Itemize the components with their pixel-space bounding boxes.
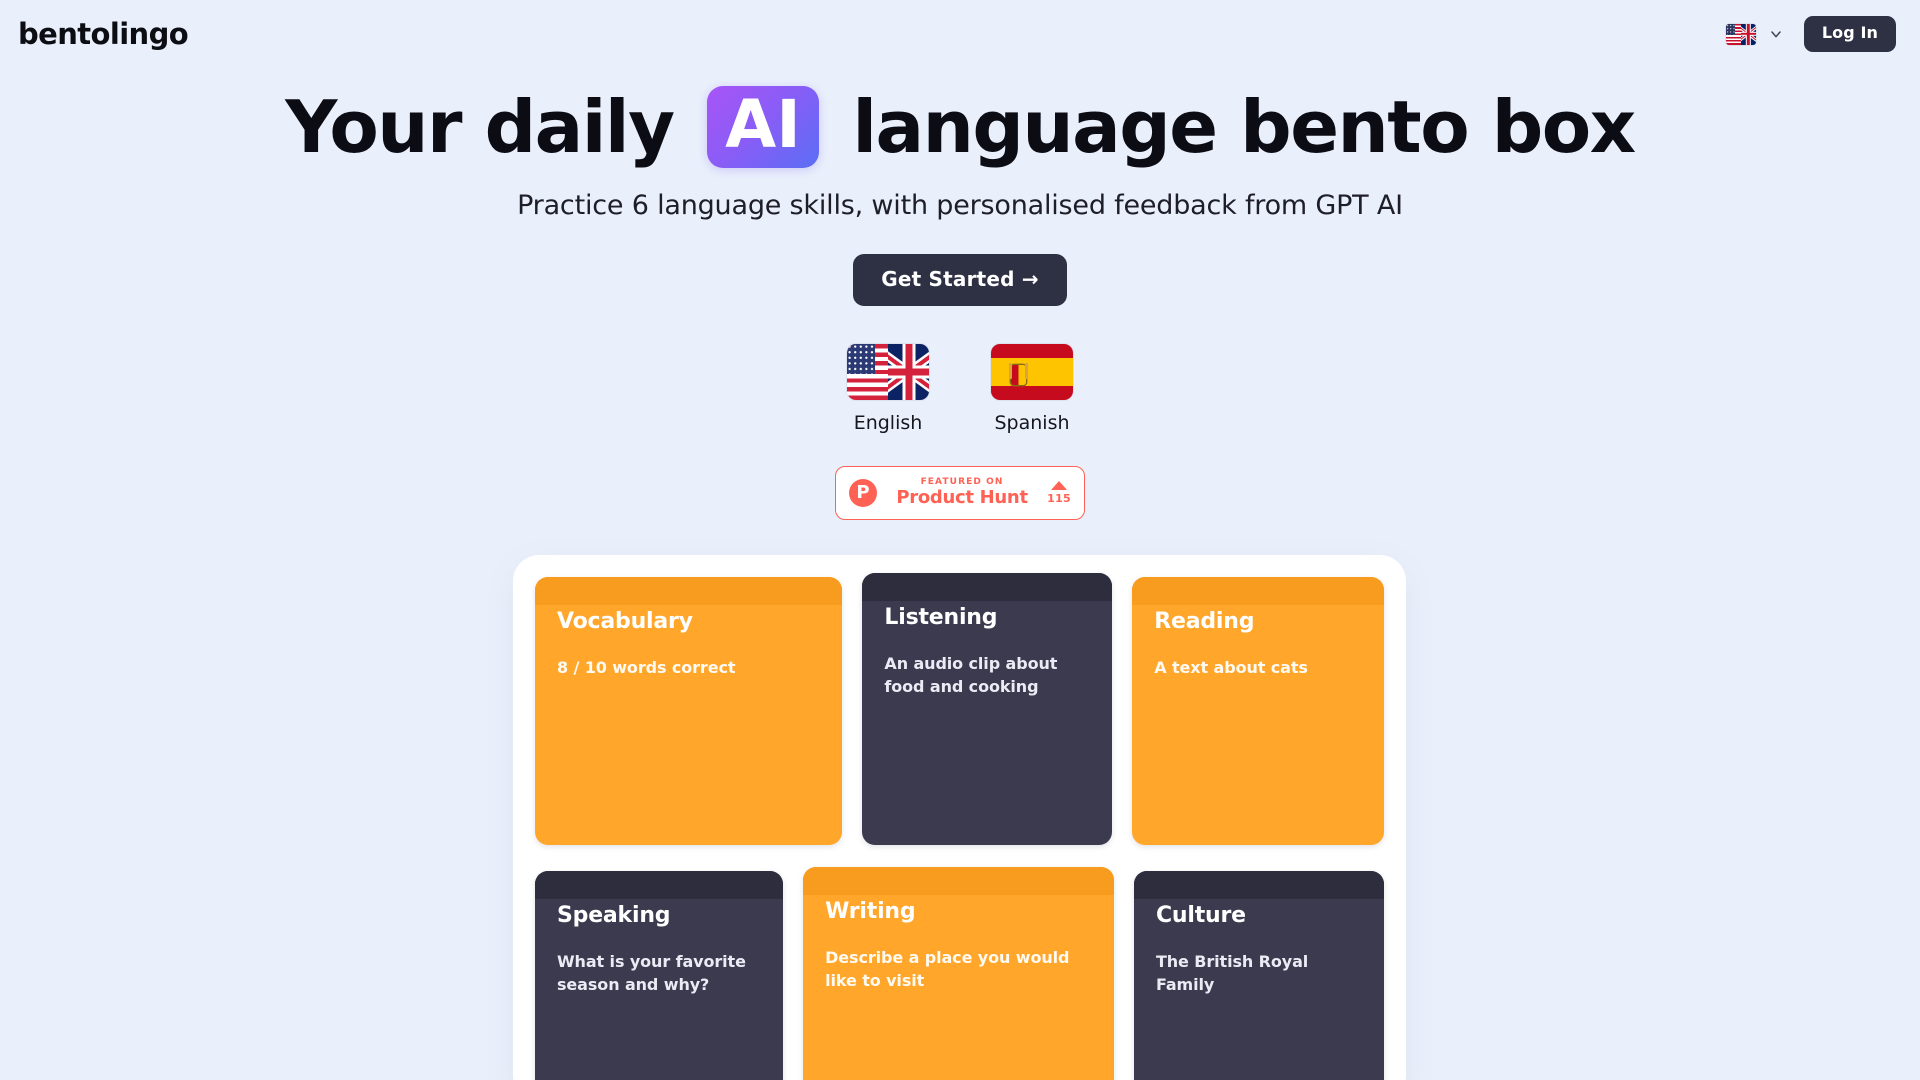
card-title: Culture xyxy=(1156,903,1362,929)
card-top-strip xyxy=(535,871,783,899)
bento-grid: Vocabulary 8 / 10 words correct Listenin… xyxy=(513,555,1406,1080)
upvote-count: 115 xyxy=(1047,492,1071,505)
card-body: Writing Describe a place you would like … xyxy=(803,895,1114,1080)
page-title: Your daily AI language bento box xyxy=(0,86,1920,168)
card-description: What is your favorite season and why? xyxy=(557,951,761,996)
language-option-english[interactable]: English xyxy=(847,344,929,434)
product-hunt-text: FEATURED ON Product Hunt xyxy=(888,478,1036,509)
bento-card-vocabulary[interactable]: Vocabulary 8 / 10 words correct xyxy=(535,577,842,845)
card-body: Reading A text about cats xyxy=(1132,605,1384,845)
card-title: Writing xyxy=(825,899,1092,925)
upvote-triangle-icon xyxy=(1051,481,1067,490)
spain-flag-icon xyxy=(991,344,1073,400)
card-top-strip xyxy=(862,573,1112,601)
bento-card-listening[interactable]: Listening An audio clip about food and c… xyxy=(862,573,1112,845)
ai-badge: AI xyxy=(707,86,819,168)
product-hunt-name: Product Hunt xyxy=(888,488,1036,509)
card-description: An audio clip about food and cooking xyxy=(884,653,1090,698)
card-description: A text about cats xyxy=(1154,657,1362,680)
cta-container: Get Started → xyxy=(0,254,1920,306)
bento-card-writing[interactable]: Writing Describe a place you would like … xyxy=(803,867,1114,1080)
card-title: Speaking xyxy=(557,903,761,929)
bento-card-reading[interactable]: Reading A text about cats xyxy=(1132,577,1384,845)
product-hunt-upvote[interactable]: 115 xyxy=(1047,481,1071,505)
card-top-strip xyxy=(1134,871,1384,899)
bento-card-speaking[interactable]: Speaking What is your favorite season an… xyxy=(535,871,783,1080)
language-options: English Spanish xyxy=(0,344,1920,434)
card-title: Listening xyxy=(884,605,1090,631)
product-hunt-badge[interactable]: P FEATURED ON Product Hunt 115 xyxy=(835,466,1085,520)
product-hunt-logo-icon: P xyxy=(849,479,877,507)
card-body: Speaking What is your favorite season an… xyxy=(535,899,783,1080)
card-description: The British Royal Family xyxy=(1156,951,1362,996)
card-body: Vocabulary 8 / 10 words correct xyxy=(535,605,842,845)
card-top-strip xyxy=(1132,577,1384,605)
card-body: Culture The British Royal Family xyxy=(1134,899,1384,1080)
bento-row: Speaking What is your favorite season an… xyxy=(535,871,1384,1080)
card-description: 8 / 10 words correct xyxy=(557,657,820,680)
bento-row: Vocabulary 8 / 10 words correct Listenin… xyxy=(535,577,1384,845)
card-top-strip xyxy=(803,867,1114,895)
card-top-strip xyxy=(535,577,842,605)
card-body: Listening An audio clip about food and c… xyxy=(862,601,1112,845)
headline-text-after: language bento box xyxy=(829,90,1635,165)
language-label: Spanish xyxy=(994,412,1069,434)
bento-card-culture[interactable]: Culture The British Royal Family xyxy=(1134,871,1384,1080)
language-label: English xyxy=(854,412,923,434)
product-hunt-container: P FEATURED ON Product Hunt 115 xyxy=(0,466,1920,520)
hero-section: Your daily AI language bento box Practic… xyxy=(0,0,1920,520)
card-title: Reading xyxy=(1154,609,1362,635)
card-description: Describe a place you would like to visit xyxy=(825,947,1092,992)
language-option-spanish[interactable]: Spanish xyxy=(991,344,1073,434)
card-title: Vocabulary xyxy=(557,609,820,635)
get-started-button[interactable]: Get Started → xyxy=(853,254,1067,306)
us-uk-flag-icon xyxy=(847,344,929,400)
headline-text-before: Your daily xyxy=(285,90,697,165)
page-subtitle: Practice 6 language skills, with persona… xyxy=(0,190,1920,221)
